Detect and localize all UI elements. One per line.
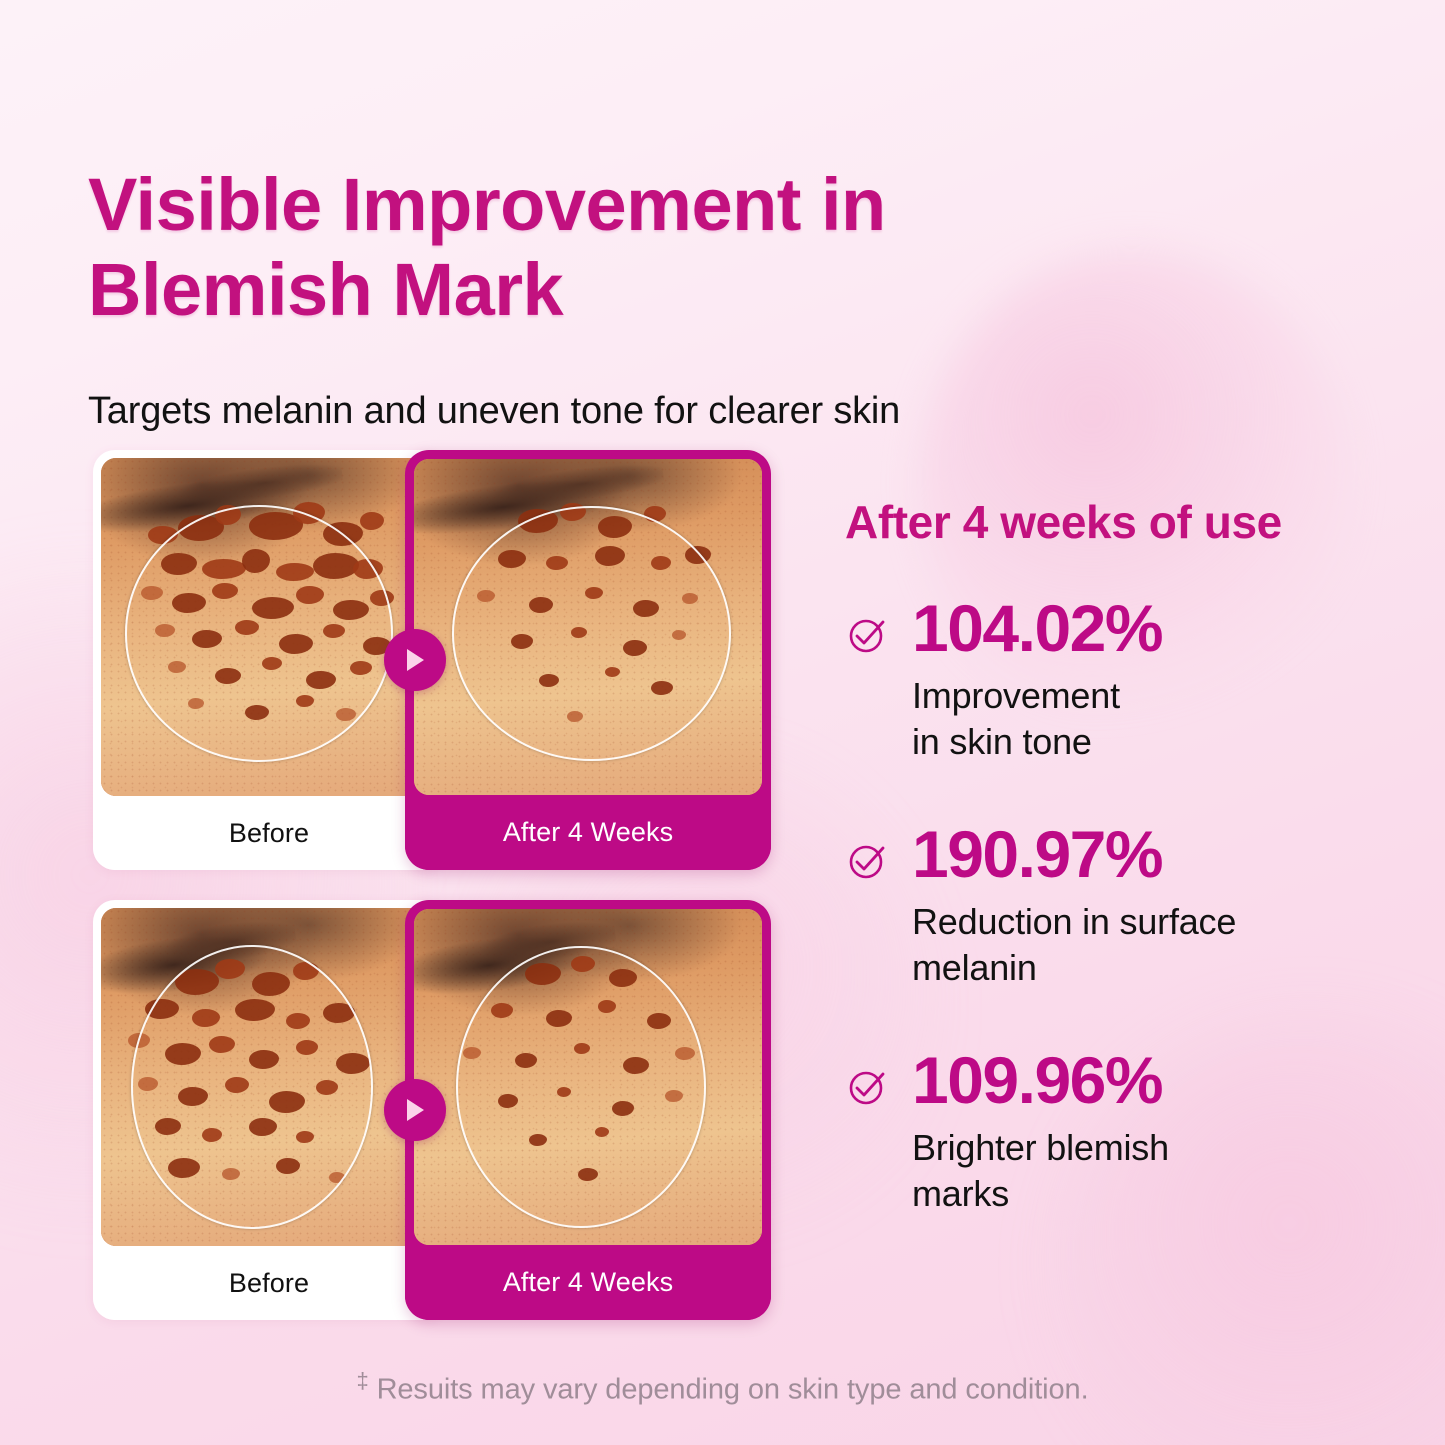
after-card-1[interactable]: After 4 Weeks bbox=[405, 450, 771, 870]
stat-item: 104.02% Improvement in skin tone bbox=[840, 595, 1400, 765]
disclaimer-text: Resuits may vary depending on skin type … bbox=[377, 1374, 1089, 1406]
stats-panel: After 4 weeks of use 104.02% Improvement… bbox=[840, 495, 1400, 1217]
page-subtitle: Targets melanin and uneven tone for clea… bbox=[88, 390, 1208, 433]
stat-description: Brighter blemish marks bbox=[912, 1125, 1400, 1217]
stat-desc-line-1: Brighter blemish bbox=[912, 1127, 1169, 1168]
stat-desc-line-2: melanin bbox=[912, 947, 1037, 988]
zoom-ring-overlay bbox=[131, 945, 373, 1229]
stat-value: 190.97% bbox=[912, 821, 1400, 887]
comparison-row-2: Before bbox=[93, 900, 771, 1320]
after-photo-1 bbox=[414, 459, 762, 795]
stat-description: Improvement in skin tone bbox=[912, 673, 1400, 765]
page-title: Visible Improvement in Blemish Mark bbox=[88, 162, 1138, 334]
promo-page: Visible Improvement in Blemish Mark Targ… bbox=[0, 0, 1445, 1445]
stat-value: 104.02% bbox=[912, 595, 1400, 661]
check-circle-icon bbox=[845, 1065, 889, 1109]
after-photo-2 bbox=[414, 909, 762, 1245]
check-circle-icon bbox=[845, 839, 889, 883]
comparison-row-1: Before bbox=[93, 450, 771, 870]
stat-description: Reduction in surface melanin bbox=[912, 899, 1400, 991]
play-icon[interactable] bbox=[384, 1079, 446, 1141]
disclaimer-mark: ‡ bbox=[356, 1368, 368, 1393]
disclaimer: ‡ Resuits may vary depending on skin typ… bbox=[0, 1368, 1445, 1407]
stat-item: 109.96% Brighter blemish marks bbox=[840, 1047, 1400, 1217]
headline-line-2: Blemish Mark bbox=[88, 248, 563, 331]
play-icon[interactable] bbox=[384, 629, 446, 691]
stat-item: 190.97% Reduction in surface melanin bbox=[840, 821, 1400, 991]
after-label-2: After 4 Weeks bbox=[405, 1245, 771, 1320]
before-photo-2 bbox=[101, 908, 437, 1246]
after-label-1: After 4 Weeks bbox=[405, 795, 771, 870]
after-card-2[interactable]: After 4 Weeks bbox=[405, 900, 771, 1320]
before-label-1: Before bbox=[93, 796, 445, 870]
stats-title: After 4 weeks of use bbox=[845, 495, 1400, 549]
stat-desc-line-1: Reduction in surface bbox=[912, 901, 1236, 942]
headline-line-1: Visible Improvement in bbox=[88, 163, 886, 246]
zoom-ring-overlay bbox=[452, 506, 730, 761]
zoom-ring-overlay bbox=[125, 505, 394, 762]
before-label-2: Before bbox=[93, 1246, 445, 1320]
check-circle-icon bbox=[845, 613, 889, 657]
stat-desc-line-1: Improvement bbox=[912, 675, 1120, 716]
before-photo-1 bbox=[101, 458, 437, 796]
stat-desc-line-2: in skin tone bbox=[912, 721, 1092, 762]
stat-value: 109.96% bbox=[912, 1047, 1400, 1113]
zoom-ring-overlay bbox=[456, 946, 707, 1228]
stat-desc-line-2: marks bbox=[912, 1173, 1009, 1214]
